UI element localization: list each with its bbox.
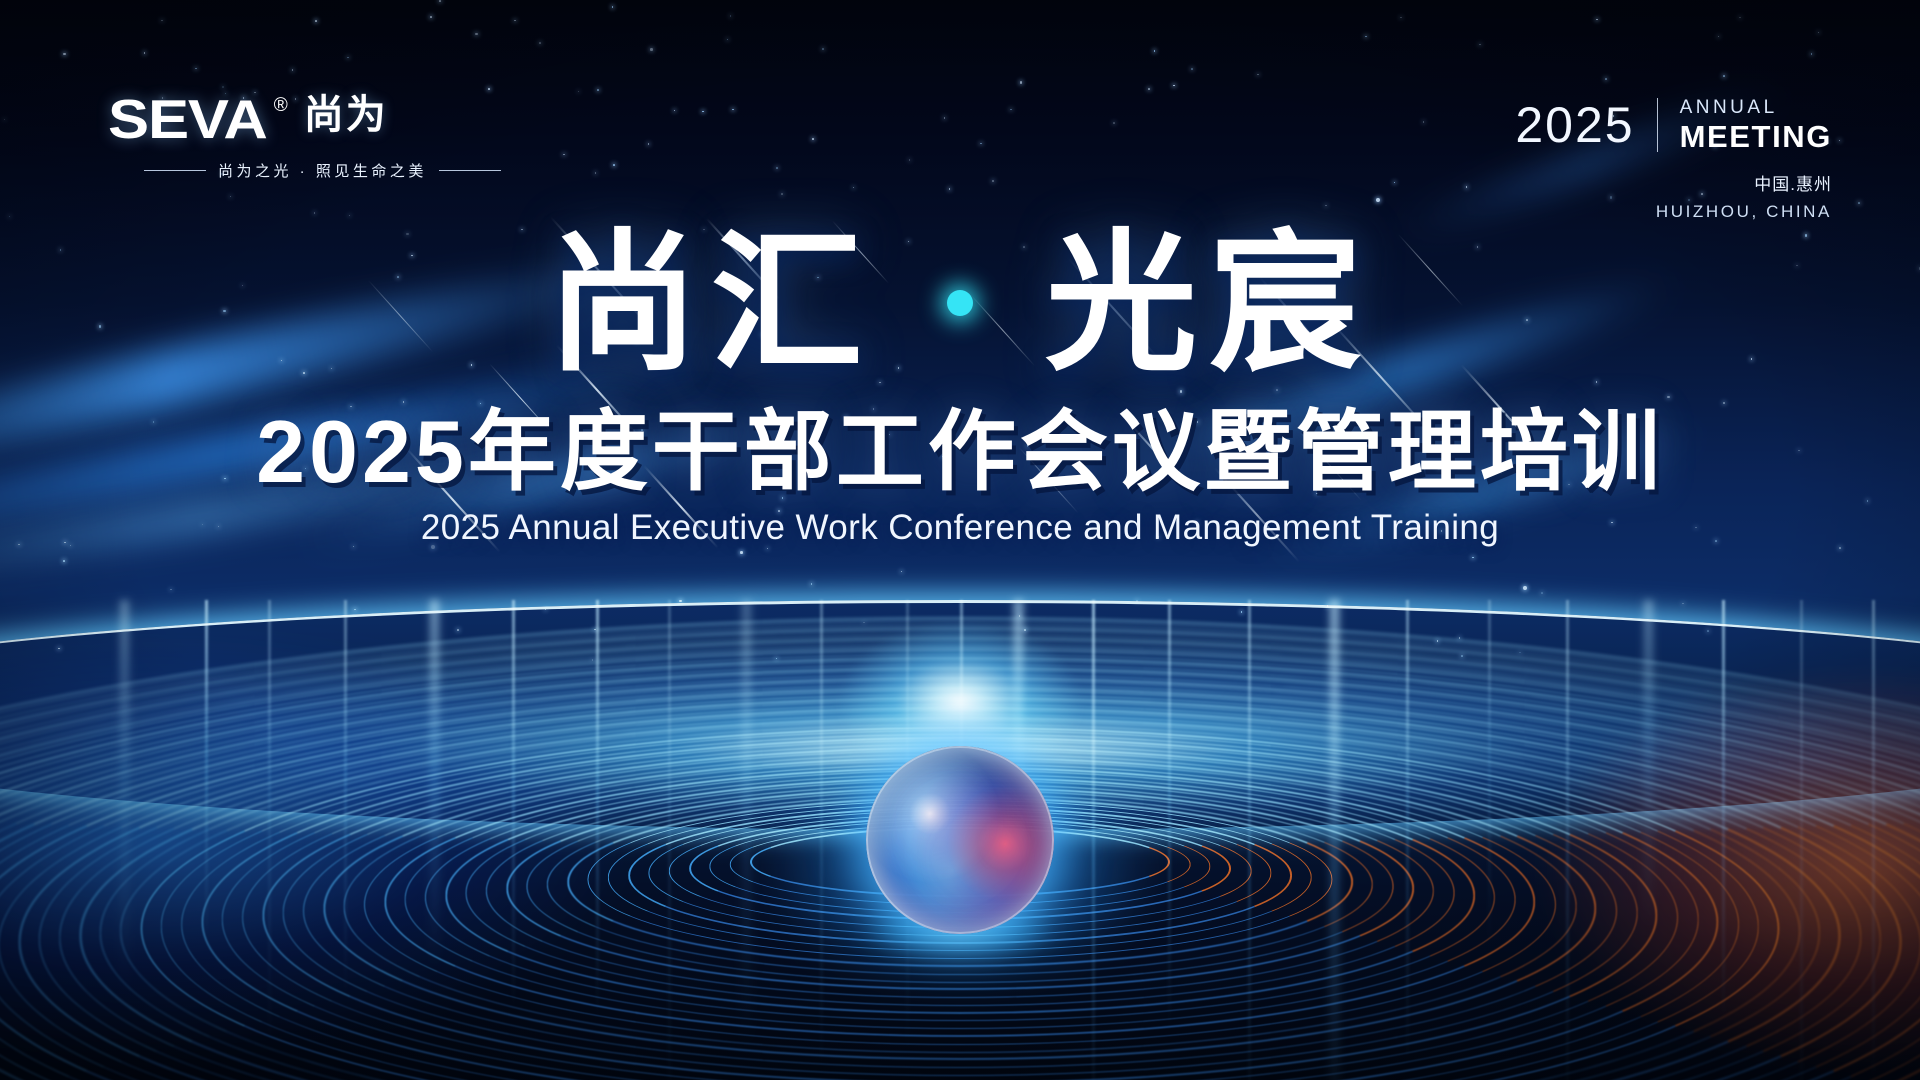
star-particle — [1596, 19, 1598, 21]
star-particle — [63, 53, 66, 56]
star-particle — [781, 193, 783, 195]
star-particle — [63, 560, 65, 562]
star-particle — [488, 88, 490, 90]
star-particle — [314, 212, 316, 214]
star-particle — [1466, 186, 1468, 188]
star-particle — [144, 52, 146, 54]
star-particle — [1818, 32, 1820, 34]
star-particle — [195, 68, 197, 70]
star-particle — [539, 42, 541, 44]
star-particle — [1276, 389, 1278, 391]
hero-subtitle-en: 2025 Annual Executive Work Conference an… — [0, 505, 1920, 551]
star-particle — [578, 91, 580, 93]
star-particle — [992, 180, 995, 183]
star-particle — [1479, 44, 1481, 46]
meeting-label: MEETING — [1680, 119, 1832, 154]
star-particle — [1718, 36, 1720, 38]
star-particle — [1423, 121, 1425, 123]
hero-title-part2: 光宸 — [1045, 219, 1373, 389]
registered-trademark-icon: ® — [274, 96, 288, 115]
star-particle — [1858, 202, 1860, 204]
orb-rim-highlight — [866, 746, 1054, 934]
star-particle — [1257, 74, 1259, 76]
event-meta: 2025 ANNUAL MEETING 中国.惠州 HUIZHOU, CHINA — [1515, 96, 1832, 222]
star-particle — [740, 551, 743, 554]
star-particle — [1867, 500, 1869, 502]
star-particle — [292, 69, 294, 71]
star-particle — [853, 187, 855, 189]
dot-separator-icon — [947, 290, 973, 316]
star-particle — [1596, 381, 1598, 383]
conference-key-visual: SEVA ® 尚为 尚为之光 · 照见生命之美 2025 ANNUAL MEET… — [0, 0, 1920, 1080]
star-particle — [732, 109, 734, 111]
star-particle — [1839, 140, 1841, 142]
star-particle — [1154, 50, 1156, 52]
star-particle — [1148, 88, 1150, 90]
star-particle — [1811, 53, 1813, 55]
star-particle — [909, 159, 911, 161]
star-particle — [170, 589, 172, 591]
star-particle — [650, 48, 653, 51]
annual-label: ANNUAL — [1680, 97, 1778, 118]
star-particle — [1739, 17, 1741, 19]
star-particle — [1541, 592, 1543, 594]
brand-tagline: 尚为之光 · 照见生命之美 — [144, 160, 501, 181]
star-particle — [674, 110, 676, 112]
event-year: 2025 — [1515, 100, 1634, 150]
brand-name-cn: 尚为 — [304, 92, 388, 138]
star-particle — [439, 0, 441, 2]
star-particle — [9, 216, 11, 218]
star-particle — [1400, 17, 1402, 19]
star-particle — [1325, 205, 1327, 207]
star-particle — [1365, 36, 1367, 38]
star-particle — [475, 33, 478, 36]
logo-row: SEVA ® 尚为 — [108, 92, 501, 147]
star-particle — [613, 164, 615, 166]
hero-title-part1: 尚汇 — [547, 219, 875, 389]
star-particle — [1191, 68, 1193, 70]
star-particle — [1010, 109, 1012, 111]
star-particle — [1723, 402, 1726, 405]
star-particle — [1605, 78, 1607, 80]
event-meta-top: 2025 ANNUAL MEETING — [1515, 96, 1832, 154]
tagline-rule-right-icon — [439, 170, 501, 171]
star-particle — [230, 196, 232, 198]
event-meta-en: ANNUAL MEETING — [1680, 96, 1832, 154]
star-particle — [612, 6, 614, 8]
star-particle — [1523, 586, 1527, 590]
star-particle — [161, 20, 163, 22]
star-particle — [822, 48, 824, 50]
tagline-text: 尚为之光 · 照见生命之美 — [218, 160, 427, 181]
star-particle — [949, 188, 951, 190]
star-particle — [514, 20, 516, 22]
star-particle — [1682, 603, 1684, 605]
star-particle — [1173, 85, 1175, 87]
star-particle — [980, 143, 982, 145]
star-particle — [349, 215, 351, 217]
seva-wordmark: SEVA — [108, 92, 267, 147]
city-en: HUIZHOU, CHINA — [1515, 202, 1832, 222]
hero-title: 尚汇 光宸 — [0, 228, 1920, 380]
star-particle — [730, 15, 732, 17]
star-particle — [1376, 198, 1380, 202]
star-particle — [563, 154, 565, 156]
hero-subtitle-cn: 2025年度干部工作会议暨管理培训 — [0, 408, 1920, 496]
star-particle — [347, 57, 349, 59]
star-particle — [1723, 75, 1725, 77]
star-particle — [812, 138, 814, 140]
tagline-rule-left-icon — [144, 170, 206, 171]
star-particle — [430, 16, 432, 18]
star-particle — [597, 89, 599, 91]
star-particle — [1180, 390, 1183, 393]
star-particle — [4, 119, 6, 121]
city-cn: 中国.惠州 — [1515, 170, 1832, 195]
star-particle — [1394, 182, 1396, 184]
brand-logo: SEVA ® 尚为 尚为之光 · 照见生命之美 — [108, 92, 501, 181]
star-particle — [944, 117, 946, 119]
star-particle — [1472, 557, 1474, 559]
star-particle — [315, 20, 317, 22]
star-particle — [702, 111, 704, 113]
vertical-divider-icon — [1657, 98, 1658, 152]
star-particle — [595, 172, 597, 174]
star-particle — [1667, 396, 1670, 399]
star-particle — [1020, 81, 1023, 84]
star-particle — [776, 167, 778, 169]
star-particle — [727, 39, 729, 41]
star-particle — [354, 609, 356, 611]
star-particle — [1113, 122, 1115, 124]
star-particle — [648, 143, 650, 145]
